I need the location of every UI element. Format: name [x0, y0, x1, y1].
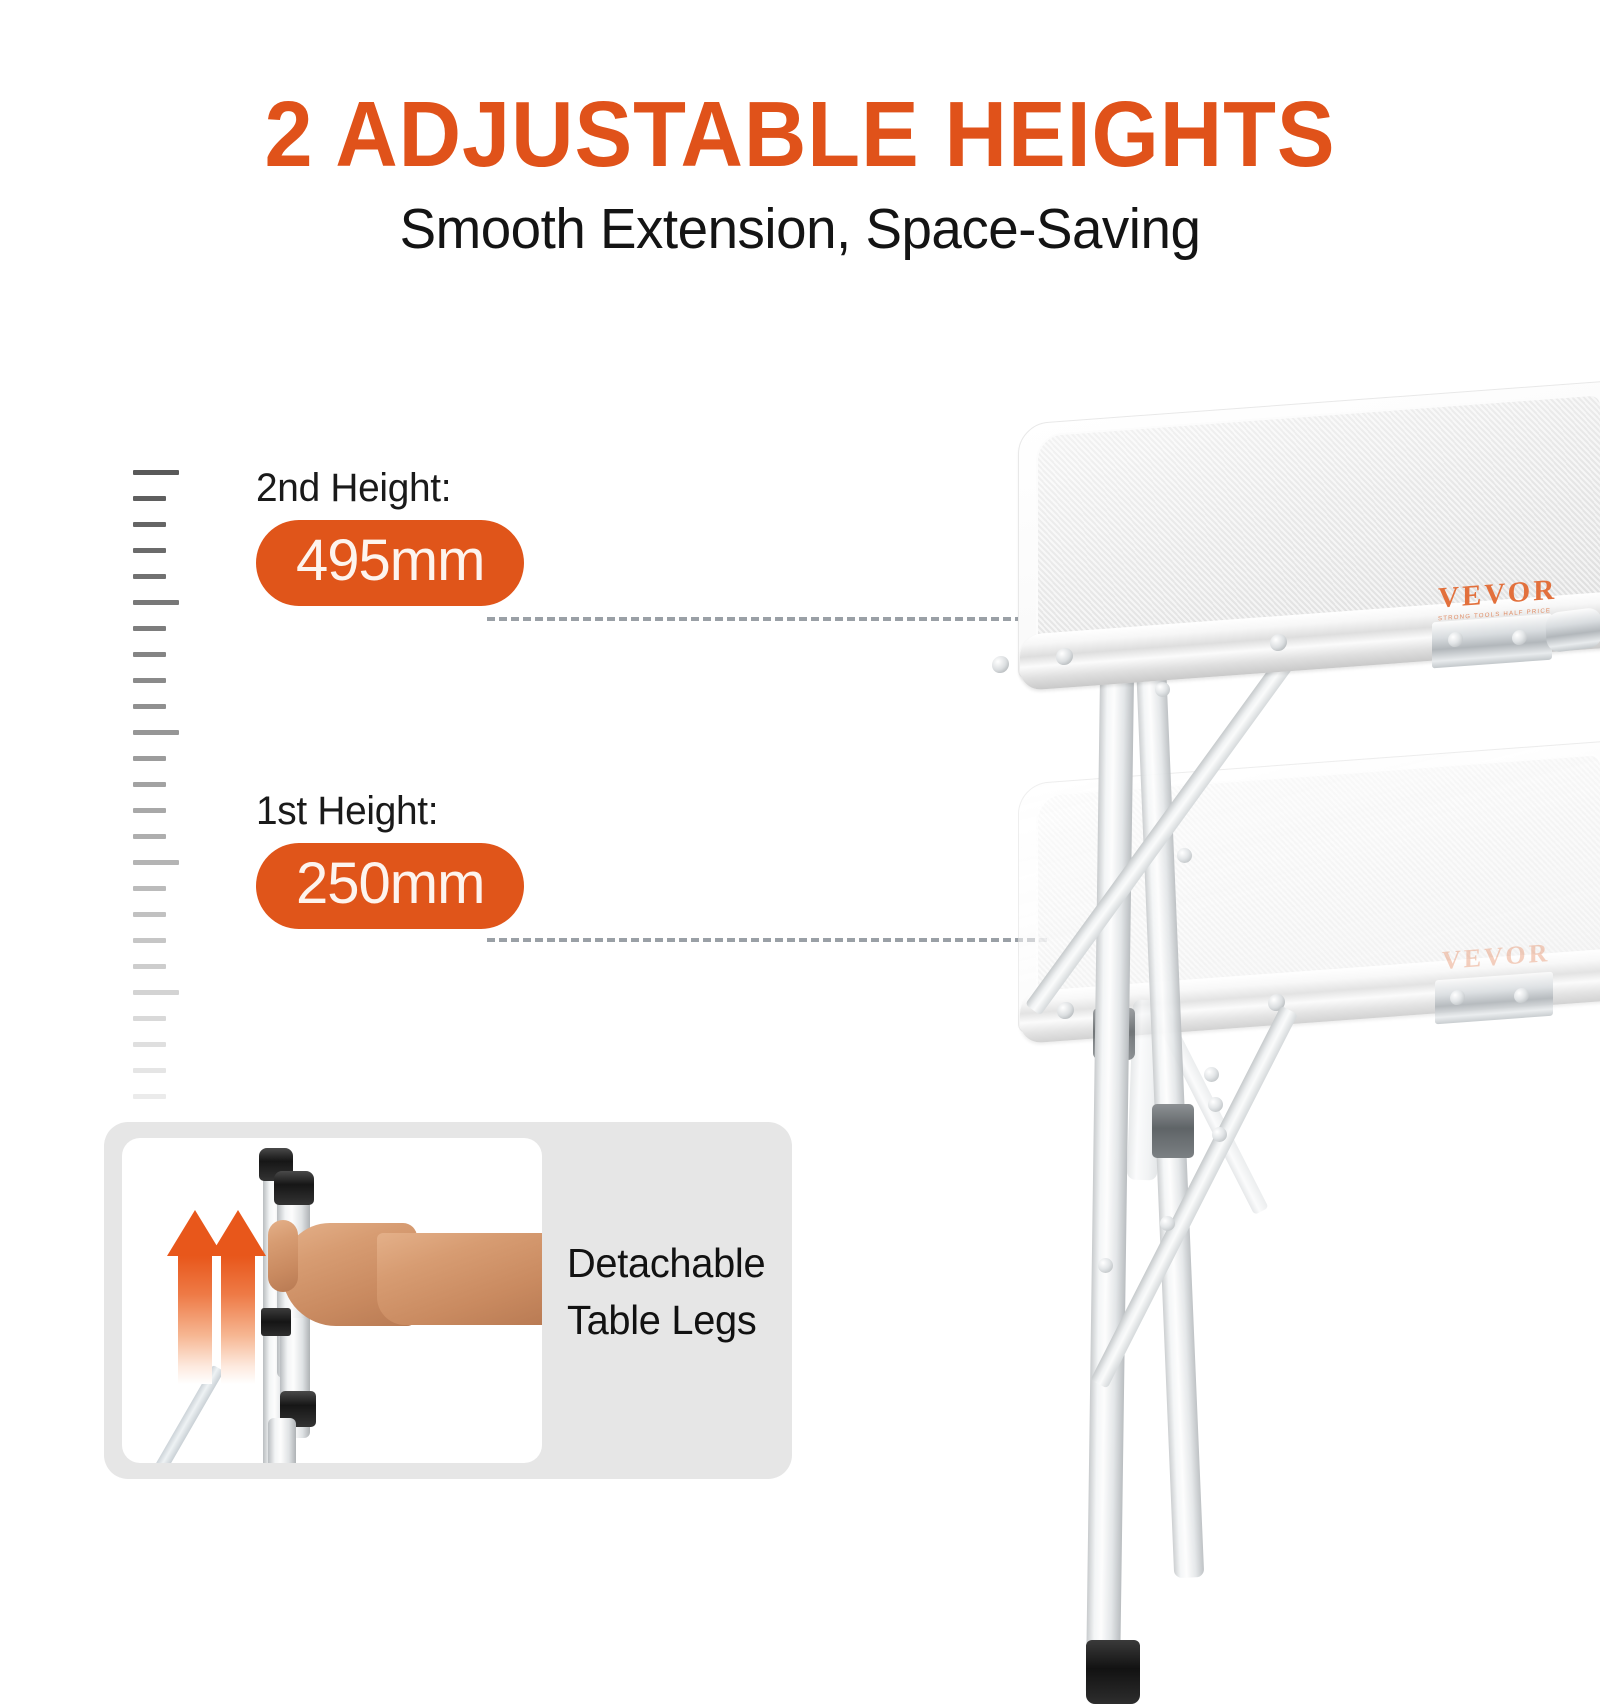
- brace-rivet-5: [1177, 848, 1192, 863]
- ruler-tick-minor: [133, 1016, 166, 1021]
- ruler-tick-minor: [133, 574, 166, 579]
- product-illustration: VEVOR VEVOR STRONG TOOLS HALF PRICE: [980, 370, 1600, 1480]
- page-subtitle: Smooth Extension, Space-Saving: [32, 201, 1568, 258]
- brace-rivet-3: [1212, 1127, 1227, 1142]
- upper-edge-screw-3: [992, 655, 1009, 673]
- ruler-tick-minor: [133, 496, 166, 501]
- ruler-tick-minor: [133, 678, 166, 683]
- brace-rivet-1: [1204, 1067, 1219, 1082]
- ruler-tick-minor: [133, 834, 166, 839]
- page-title: 2 ADJUSTABLE HEIGHTS: [56, 88, 1544, 181]
- ruler-tick-minor: [133, 1068, 166, 1073]
- brace-rivet-4: [1155, 682, 1170, 697]
- inset-forearm: [377, 1233, 542, 1325]
- callout-second-height: 2nd Height: 495mm: [256, 466, 524, 606]
- brace-rivet-2: [1208, 1097, 1223, 1112]
- inset-lower-pole: [268, 1418, 296, 1463]
- ruler-tick-minor: [133, 964, 166, 969]
- detachable-legs-caption-line1: Detachable: [567, 1235, 776, 1292]
- leader-line-second-height: [487, 617, 1047, 621]
- inset-pole-band: [261, 1308, 291, 1336]
- ruler-tick-minor: [133, 912, 166, 917]
- ruler-tick-major: [133, 730, 179, 735]
- up-arrow-left-shaft: [178, 1256, 212, 1384]
- detachable-legs-photo: [122, 1138, 542, 1463]
- detachable-legs-caption: Detachable Table Legs: [567, 1235, 776, 1348]
- callout-first-height-badge: 250mm: [256, 843, 524, 929]
- ruler-tick-major: [133, 600, 179, 605]
- detachable-legs-caption-line2: Table Legs: [567, 1292, 776, 1349]
- ruler-tick-minor: [133, 756, 166, 761]
- detachable-legs-panel: Detachable Table Legs: [104, 1122, 792, 1479]
- ruler-tick-minor: [133, 782, 166, 787]
- ruler-tick-minor: [133, 626, 166, 631]
- brace-rivet-7: [1160, 1216, 1175, 1231]
- ruler-tick-major: [133, 860, 179, 865]
- up-arrow-right-head: [210, 1210, 266, 1256]
- leg-foot-cap: [1086, 1640, 1140, 1704]
- inset-pole-front-cap: [274, 1171, 314, 1205]
- leader-line-first-height: [487, 938, 1047, 942]
- ruler-tick-minor: [133, 652, 166, 657]
- callout-second-height-label: 2nd Height:: [256, 466, 516, 511]
- callout-first-height-label: 1st Height:: [256, 789, 516, 834]
- header-block: 2 ADJUSTABLE HEIGHTS Smooth Extension, S…: [0, 88, 1600, 258]
- ruler-tick-minor: [133, 1094, 166, 1099]
- ruler-tick-minor: [133, 808, 166, 813]
- callout-first-height: 1st Height: 250mm: [256, 789, 524, 929]
- up-arrow-right-shaft: [221, 1256, 255, 1384]
- ruler-tick-minor: [133, 886, 166, 891]
- ruler-tick-minor: [133, 1042, 166, 1047]
- ruler-tick-minor: [133, 522, 166, 527]
- inset-thumb: [268, 1220, 298, 1292]
- brace-rivet-6: [1098, 1258, 1113, 1273]
- ruler-tick-major: [133, 470, 179, 475]
- callout-second-height-badge: 495mm: [256, 520, 524, 606]
- measurement-ruler: [133, 470, 179, 1110]
- ruler-tick-minor: [133, 548, 166, 553]
- ruler-tick-minor: [133, 704, 166, 709]
- ruler-tick-minor: [133, 938, 166, 943]
- leg-mid-collar: [1152, 1104, 1194, 1158]
- ruler-tick-major: [133, 990, 179, 995]
- upper-hinge-knuckle: [1545, 607, 1600, 654]
